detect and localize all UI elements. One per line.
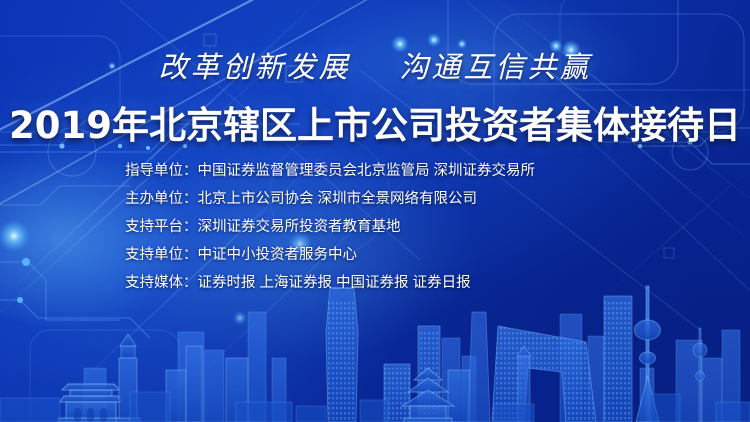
credit-value: 北京上市公司协会 深圳市全景网络有限公司 <box>198 188 478 211</box>
credit-label: 主办单位： <box>125 188 198 211</box>
credit-value: 中国证券监督管理委员会北京监管局 深圳证券交易所 <box>198 160 536 183</box>
credit-label: 指导单位： <box>125 160 198 183</box>
credit-row-guidance: 指导单位： 中国证券监督管理委员会北京监管局 深圳证券交易所 <box>125 160 625 183</box>
credit-row-organizer: 主办单位： 北京上市公司协会 深圳市全景网络有限公司 <box>125 188 625 211</box>
poster-content: 改革创新发展 沟通互信共赢 2019年北京辖区上市公司投资者集体接待日 指导单位… <box>0 0 750 422</box>
poster-banner: 改革创新发展 沟通互信共赢 2019年北京辖区上市公司投资者集体接待日 指导单位… <box>0 0 750 422</box>
credit-value: 深圳证券交易所投资者教育基地 <box>198 216 401 239</box>
page-title: 2019年北京辖区上市公司投资者集体接待日 <box>0 95 750 149</box>
credits-list: 指导单位： 中国证券监督管理委员会北京监管局 深圳证券交易所 主办单位： 北京上… <box>0 160 750 295</box>
credit-label: 支持平台： <box>125 216 198 239</box>
credit-row-platform: 支持平台： 深圳证券交易所投资者教育基地 <box>125 216 625 239</box>
credit-label: 支持媒体： <box>125 272 198 295</box>
poster-slogan: 改革创新发展 沟通互信共赢 <box>0 44 750 86</box>
credit-row-support-unit: 支持单位： 中证中小投资者服务中心 <box>125 244 625 267</box>
credit-row-media: 支持媒体： 证券时报 上海证券报 中国证券报 证券日报 <box>125 272 625 295</box>
credit-label: 支持单位： <box>125 244 198 267</box>
credit-value: 证券时报 上海证券报 中国证券报 证券日报 <box>198 272 471 295</box>
credit-value: 中证中小投资者服务中心 <box>198 244 358 267</box>
